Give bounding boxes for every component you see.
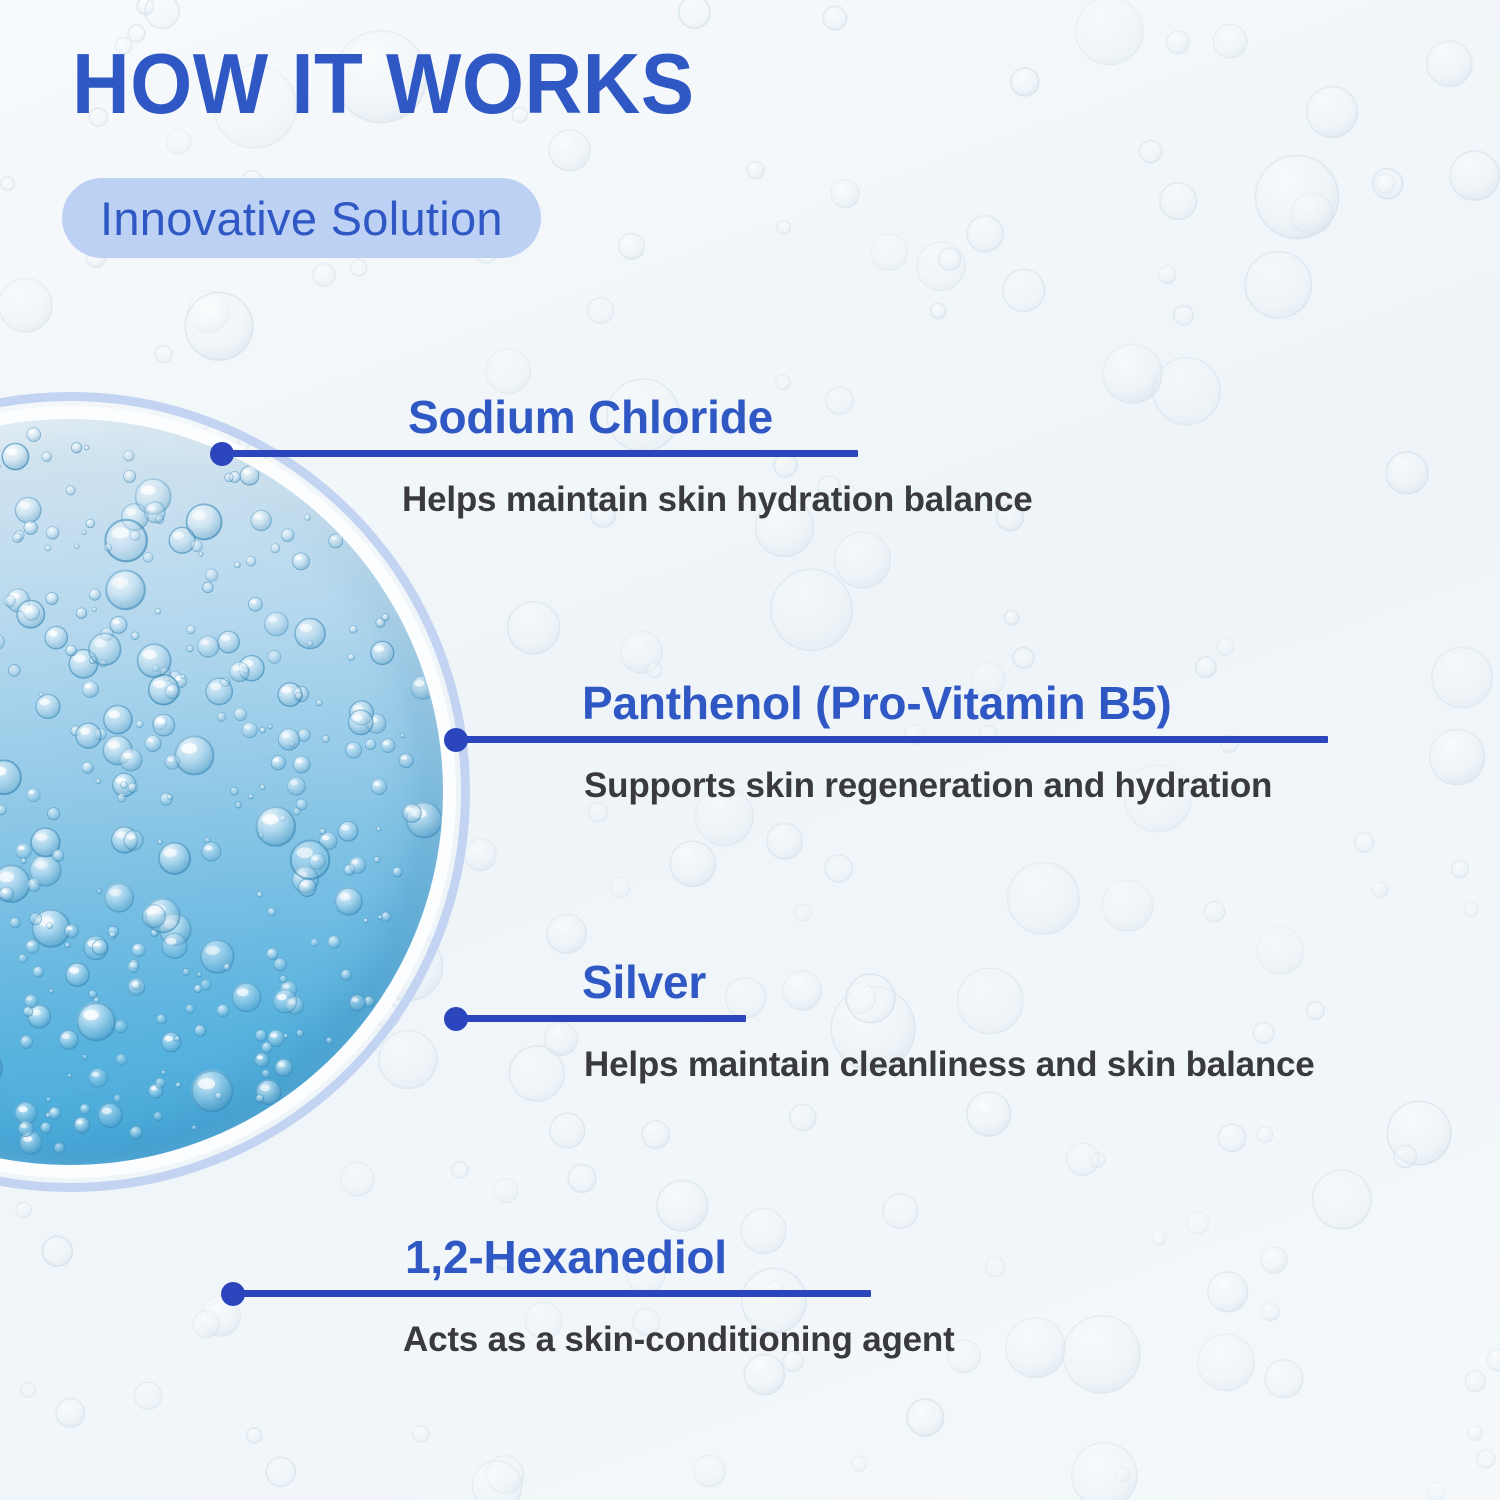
ingredient-description: Helps maintain skin hydration balance [402,480,1033,520]
how-it-works-infographic: HOW IT WORKS Innovative Solution Sodium … [0,0,1500,1500]
callout-connector-line [456,1015,746,1022]
ingredient-description: Acts as a skin-conditioning agent [403,1320,955,1360]
callout-connector-line [233,1290,871,1297]
ingredient-callout: Panthenol (Pro-Vitamin B5)Supports skin … [444,728,468,752]
callout-connector-line [222,450,858,457]
ingredient-title: Panthenol (Pro-Vitamin B5) [582,676,1171,730]
ingredient-title: 1,2-Hexanediol [405,1230,727,1284]
callout-connector-line [456,736,1328,743]
ingredient-title: Sodium Chloride [408,390,773,444]
ingredient-description: Helps maintain cleanliness and skin bala… [584,1045,1315,1085]
ingredient-callout: SilverHelps maintain cleanliness and ski… [444,1007,468,1031]
ingredient-callout: Sodium ChlorideHelps maintain skin hydra… [210,442,234,466]
ingredient-title: Silver [582,955,706,1009]
ingredient-description: Supports skin regeneration and hydration [584,766,1272,806]
page-title: HOW IT WORKS [72,42,695,127]
blue-gel-droplet-circle [0,392,470,1192]
gel-disc [0,419,443,1165]
ingredient-callout: 1,2-HexanediolActs as a skin-conditionin… [221,1282,245,1306]
subtitle-badge: Innovative Solution [62,178,541,258]
